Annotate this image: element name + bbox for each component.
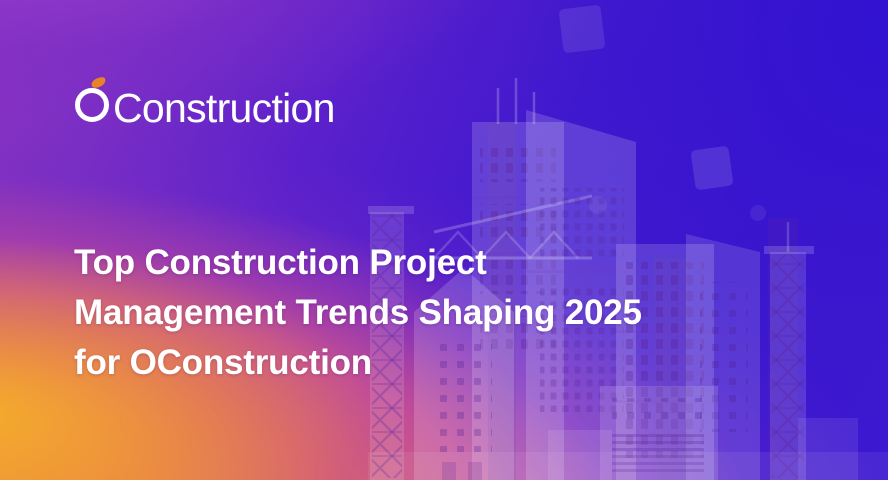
circle-o-mark-icon [74,78,112,122]
logo-ring-shape [75,88,109,122]
brand-logo[interactable]: Construction [74,78,335,128]
page-title-line-1: Top Construction Project [74,238,774,288]
blog-banner: Construction Top Construction Project Ma… [0,0,888,480]
page-title-line-2: Management Trends Shaping 2025 [74,288,774,338]
page-title-line-3: for OConstruction [74,338,774,388]
banner-content: Construction Top Construction Project Ma… [0,0,888,480]
brand-logo-wordmark: Construction [113,88,335,129]
page-title: Top Construction Project Management Tren… [74,238,774,388]
